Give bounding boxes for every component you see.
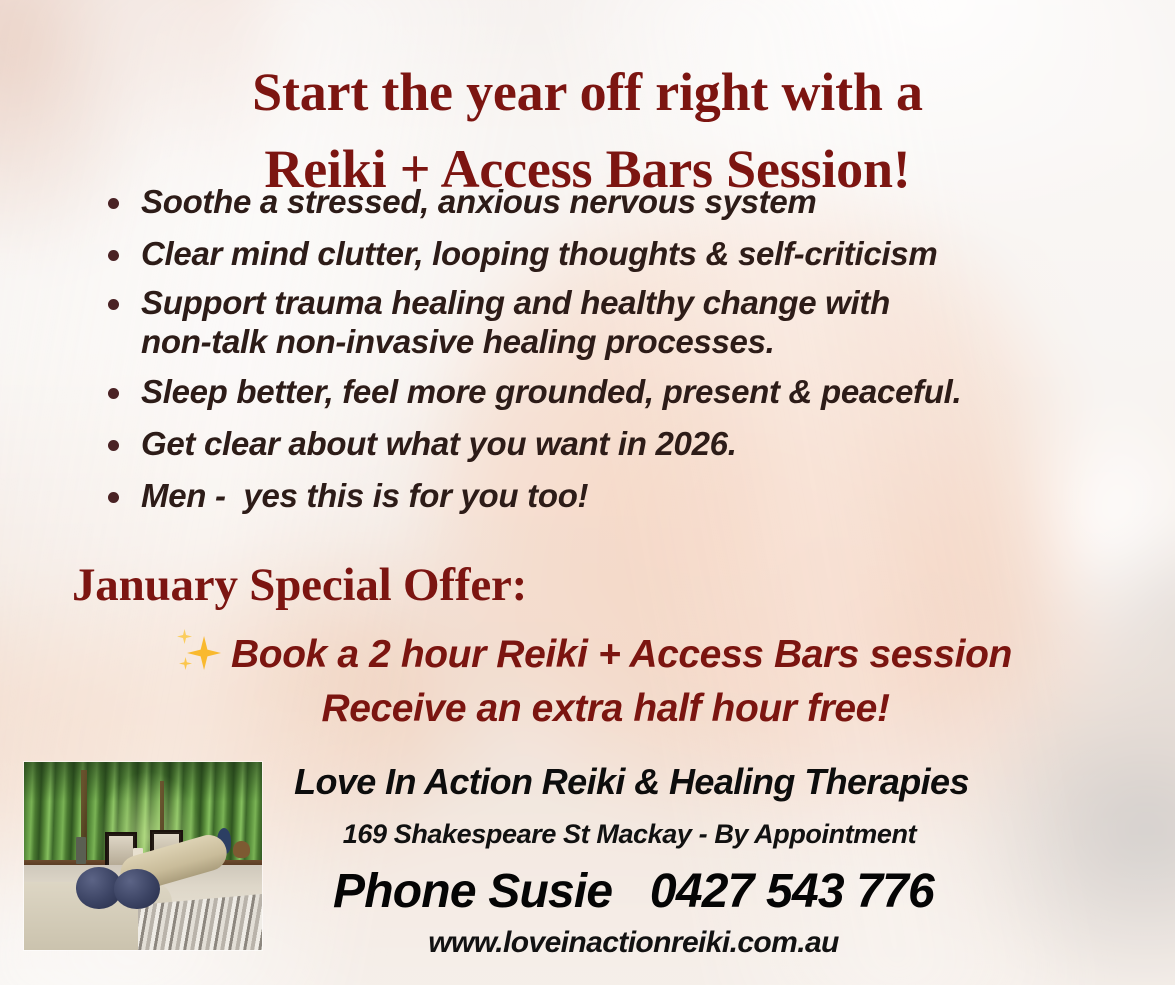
headline-line-1: Start the year off right with a (252, 62, 923, 122)
benefit-item: Sleep better, feel more grounded, presen… (100, 373, 1155, 412)
offer-line-1-text: Book a 2 hour Reiki + Access Bars sessio… (231, 633, 1012, 676)
flyer-content: Start the year off right with a Reiki + … (0, 0, 1175, 985)
business-name: Love In Action Reiki & Healing Therapies (0, 762, 1175, 802)
phone-number: Phone Susie 0427 543 776 (0, 866, 1175, 919)
business-address: 169 Shakespeare St Mackay - By Appointme… (0, 820, 1175, 850)
sparkles-icon (177, 629, 227, 675)
benefit-item: Soothe a stressed, anxious nervous syste… (100, 183, 1155, 222)
benefit-item: Get clear about what you want in 2026. (100, 425, 1155, 464)
sparkle-small-lower (179, 657, 192, 670)
benefit-item: Men - yes this is for you too! (100, 477, 1155, 516)
offer-line-2: Receive an extra half hour free! (0, 682, 1175, 736)
offer-heading: January Special Offer: (72, 560, 527, 612)
sparkle-large (187, 636, 221, 670)
website-url[interactable]: www.loveinactionreiki.com.au (0, 926, 1175, 959)
reiki-promo-flyer: Start the year off right with a Reiki + … (0, 0, 1175, 985)
sparkle-small-upper (177, 629, 192, 644)
offer-body: Book a 2 hour Reiki + Access Bars sessio… (0, 628, 1175, 736)
benefits-list: Soothe a stressed, anxious nervous syste… (100, 183, 1155, 528)
benefit-item: Support trauma healing and healthy chang… (100, 284, 1155, 361)
benefit-item: Clear mind clutter, looping thoughts & s… (100, 235, 1155, 274)
offer-line-1: Book a 2 hour Reiki + Access Bars sessio… (0, 628, 1175, 682)
